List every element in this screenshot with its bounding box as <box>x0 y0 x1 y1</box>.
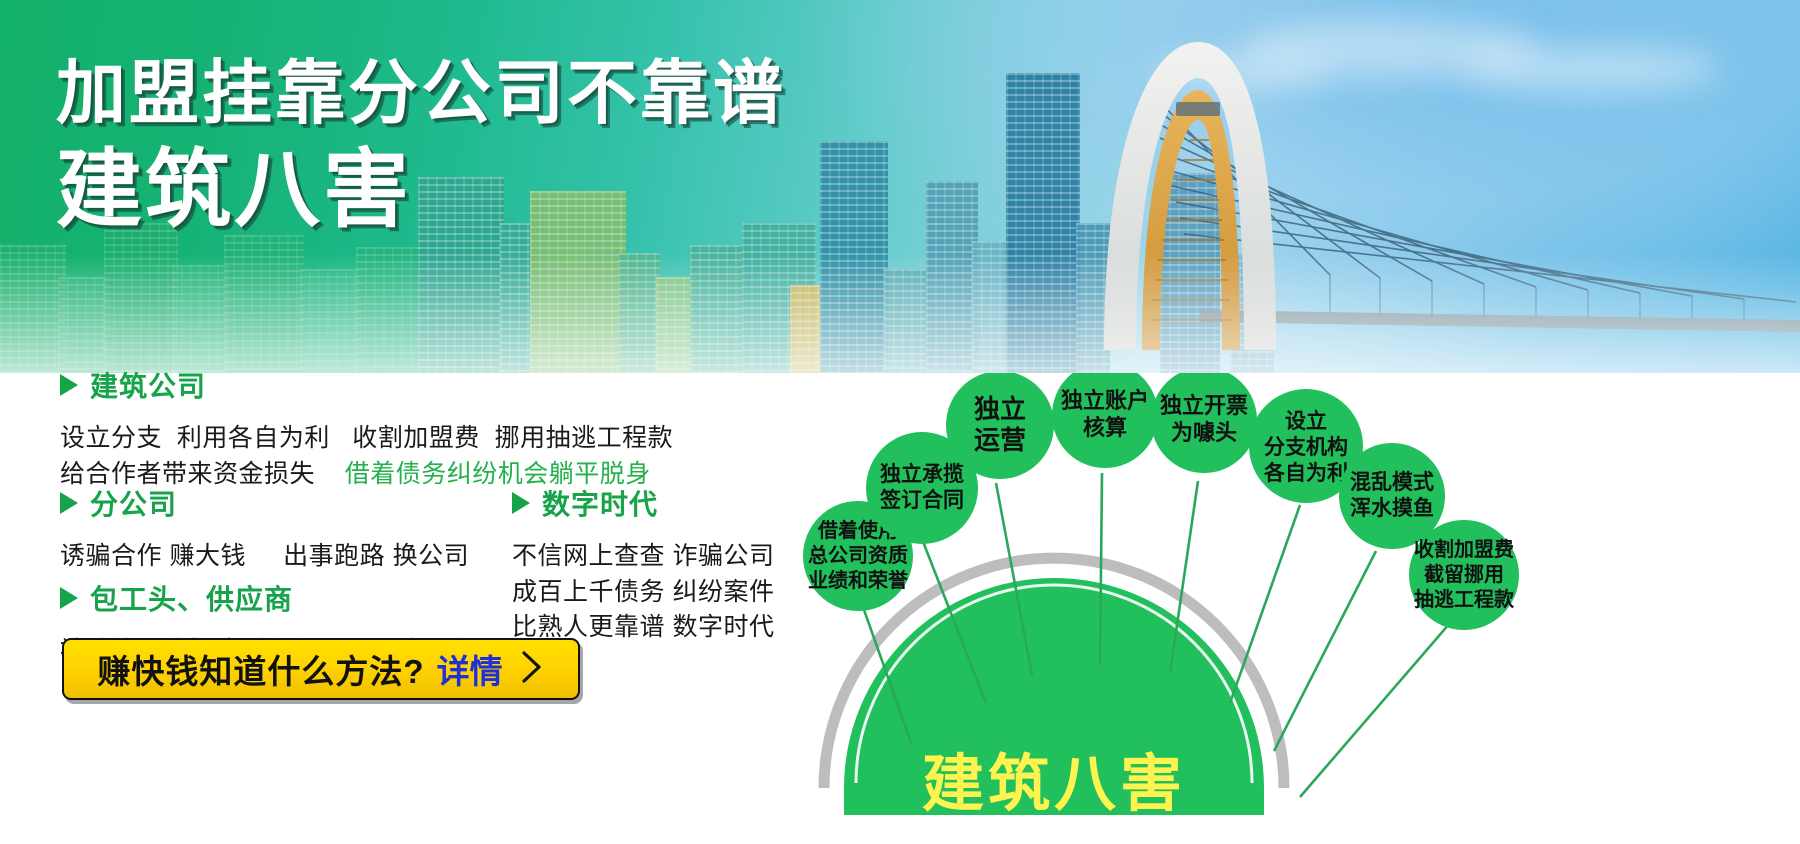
section-line-text: 不信网上查查 诈骗公司 <box>512 542 774 570</box>
section-heading-label: 数字时代 <box>542 483 658 523</box>
hero-banner: 加盟挂靠分公司不靠谱 建筑八害 <box>0 0 1800 373</box>
poster-canvas: 加盟挂靠分公司不靠谱 建筑八害 建筑公司 设立分支 利用各自为利 收割加盟费 挪… <box>0 0 1800 844</box>
section-line-text: 设立分支 利用各自为利 收割加盟费 挪用抽逃工程款 <box>60 424 673 452</box>
triangle-bullet-icon <box>60 374 78 396</box>
dome-label: 建筑八害 <box>922 750 1186 819</box>
triangle-bullet-icon <box>512 492 530 514</box>
section-heading-label: 建筑公司 <box>90 365 206 405</box>
section-heading-label: 分公司 <box>90 483 177 523</box>
bubble-line: 独立开票 <box>1160 393 1248 418</box>
bubble-line: 浑水摸鱼 <box>1350 496 1434 520</box>
triangle-bullet-icon <box>60 492 78 514</box>
bubble-line: 签订合同 <box>879 488 964 512</box>
bubble-line: 运营 <box>974 425 1026 455</box>
bubble-line: 截留挪用 <box>1424 562 1504 586</box>
section-line-text: 比熟人更靠谱 数字时代 <box>512 613 774 641</box>
bubble-line: 总公司资质 <box>808 543 908 567</box>
cta-button[interactable]: 赚快钱知道什么方法? 详情 <box>62 638 580 700</box>
hero-title-group: 加盟挂靠分公司不靠谱 建筑八害 <box>56 56 786 236</box>
section-line: 诱骗合作 赚大钱 出事跑路 换公司 <box>60 539 520 575</box>
hero-title-line-2: 建筑八害 <box>56 144 786 237</box>
bubble-b4[interactable]: 独立账户 核算 <box>1052 373 1158 468</box>
bubble-line: 独立 <box>974 394 1026 424</box>
bubble-b5[interactable]: 独立开票 为噱头 <box>1151 373 1257 473</box>
content-area: 建筑公司 设立分支 利用各自为利 收割加盟费 挪用抽逃工程款 给合作者带来资金损… <box>0 373 1800 844</box>
section-heading: 数字时代 <box>512 483 812 523</box>
section-heading: 分公司 <box>60 483 520 523</box>
bubble-line: 收割加盟费 <box>1414 537 1514 561</box>
bubble-line: 混乱模式 <box>1350 470 1434 494</box>
bubble-line: 核算 <box>1083 415 1127 440</box>
chevron-right-icon <box>519 650 545 689</box>
horizon-haze <box>0 253 1800 373</box>
bubble-line: 业绩和荣誉 <box>808 568 909 592</box>
diagram-svg: 建筑八害 借着使用 总公司资质 业绩和荣誉 独立承揽 签订合同 <box>800 373 1800 844</box>
triangle-bullet-icon <box>60 587 78 609</box>
bubble-line: 各自为利 <box>1263 461 1348 485</box>
section-heading: 包工头、供应商 <box>60 578 580 618</box>
bubble-line: 独立账户 <box>1061 388 1149 413</box>
bubble-line: 分支机构 <box>1264 435 1348 459</box>
section-heading-label: 包工头、供应商 <box>90 578 293 618</box>
cta-detail-link[interactable]: 详情 <box>437 645 503 693</box>
bubble-line: 设立 <box>1285 409 1327 433</box>
section-line: 设立分支 利用各自为利 收割加盟费 挪用抽逃工程款 <box>60 421 800 457</box>
section-digital-era: 数字时代 不信网上查查 诈骗公司 成百上千债务 纠纷案件 比熟人更靠谱 数字时代 <box>512 483 812 646</box>
section-line: 成百上千债务 纠纷案件 <box>512 575 812 611</box>
bubble-b8[interactable]: 收割加盟费 截留挪用 抽逃工程款 <box>1409 520 1519 630</box>
section-heading: 建筑公司 <box>60 365 800 405</box>
section-construction-company: 建筑公司 设立分支 利用各自为利 收割加盟费 挪用抽逃工程款 给合作者带来资金损… <box>60 365 800 492</box>
section-line-text: 诱骗合作 赚大钱 出事跑路 换公司 <box>60 542 469 570</box>
bubble-b3[interactable]: 独立 运营 <box>946 373 1054 479</box>
bubble-line: 独立承揽 <box>880 462 964 486</box>
section-branch-company: 分公司 诱骗合作 赚大钱 出事跑路 换公司 <box>60 483 520 575</box>
section-body: 不信网上查查 诈骗公司 成百上千债务 纠纷案件 比熟人更靠谱 数字时代 <box>512 539 812 646</box>
cta-question-label: 赚快钱知道什么方法? <box>97 645 424 693</box>
bubble-diagram: 建筑八害 借着使用 总公司资质 业绩和荣誉 独立承揽 签订合同 <box>800 373 1800 844</box>
section-body: 诱骗合作 赚大钱 出事跑路 换公司 <box>60 539 520 575</box>
section-body: 设立分支 利用各自为利 收割加盟费 挪用抽逃工程款 给合作者带来资金损失 借着债… <box>60 421 800 492</box>
section-line-text: 成百上千债务 纠纷案件 <box>512 578 774 606</box>
bubble-line: 为噱头 <box>1171 420 1237 445</box>
hero-title-line-1: 加盟挂靠分公司不靠谱 <box>56 56 786 132</box>
section-line: 不信网上查查 诈骗公司 <box>512 539 812 575</box>
bubble-line: 抽逃工程款 <box>1414 587 1515 611</box>
